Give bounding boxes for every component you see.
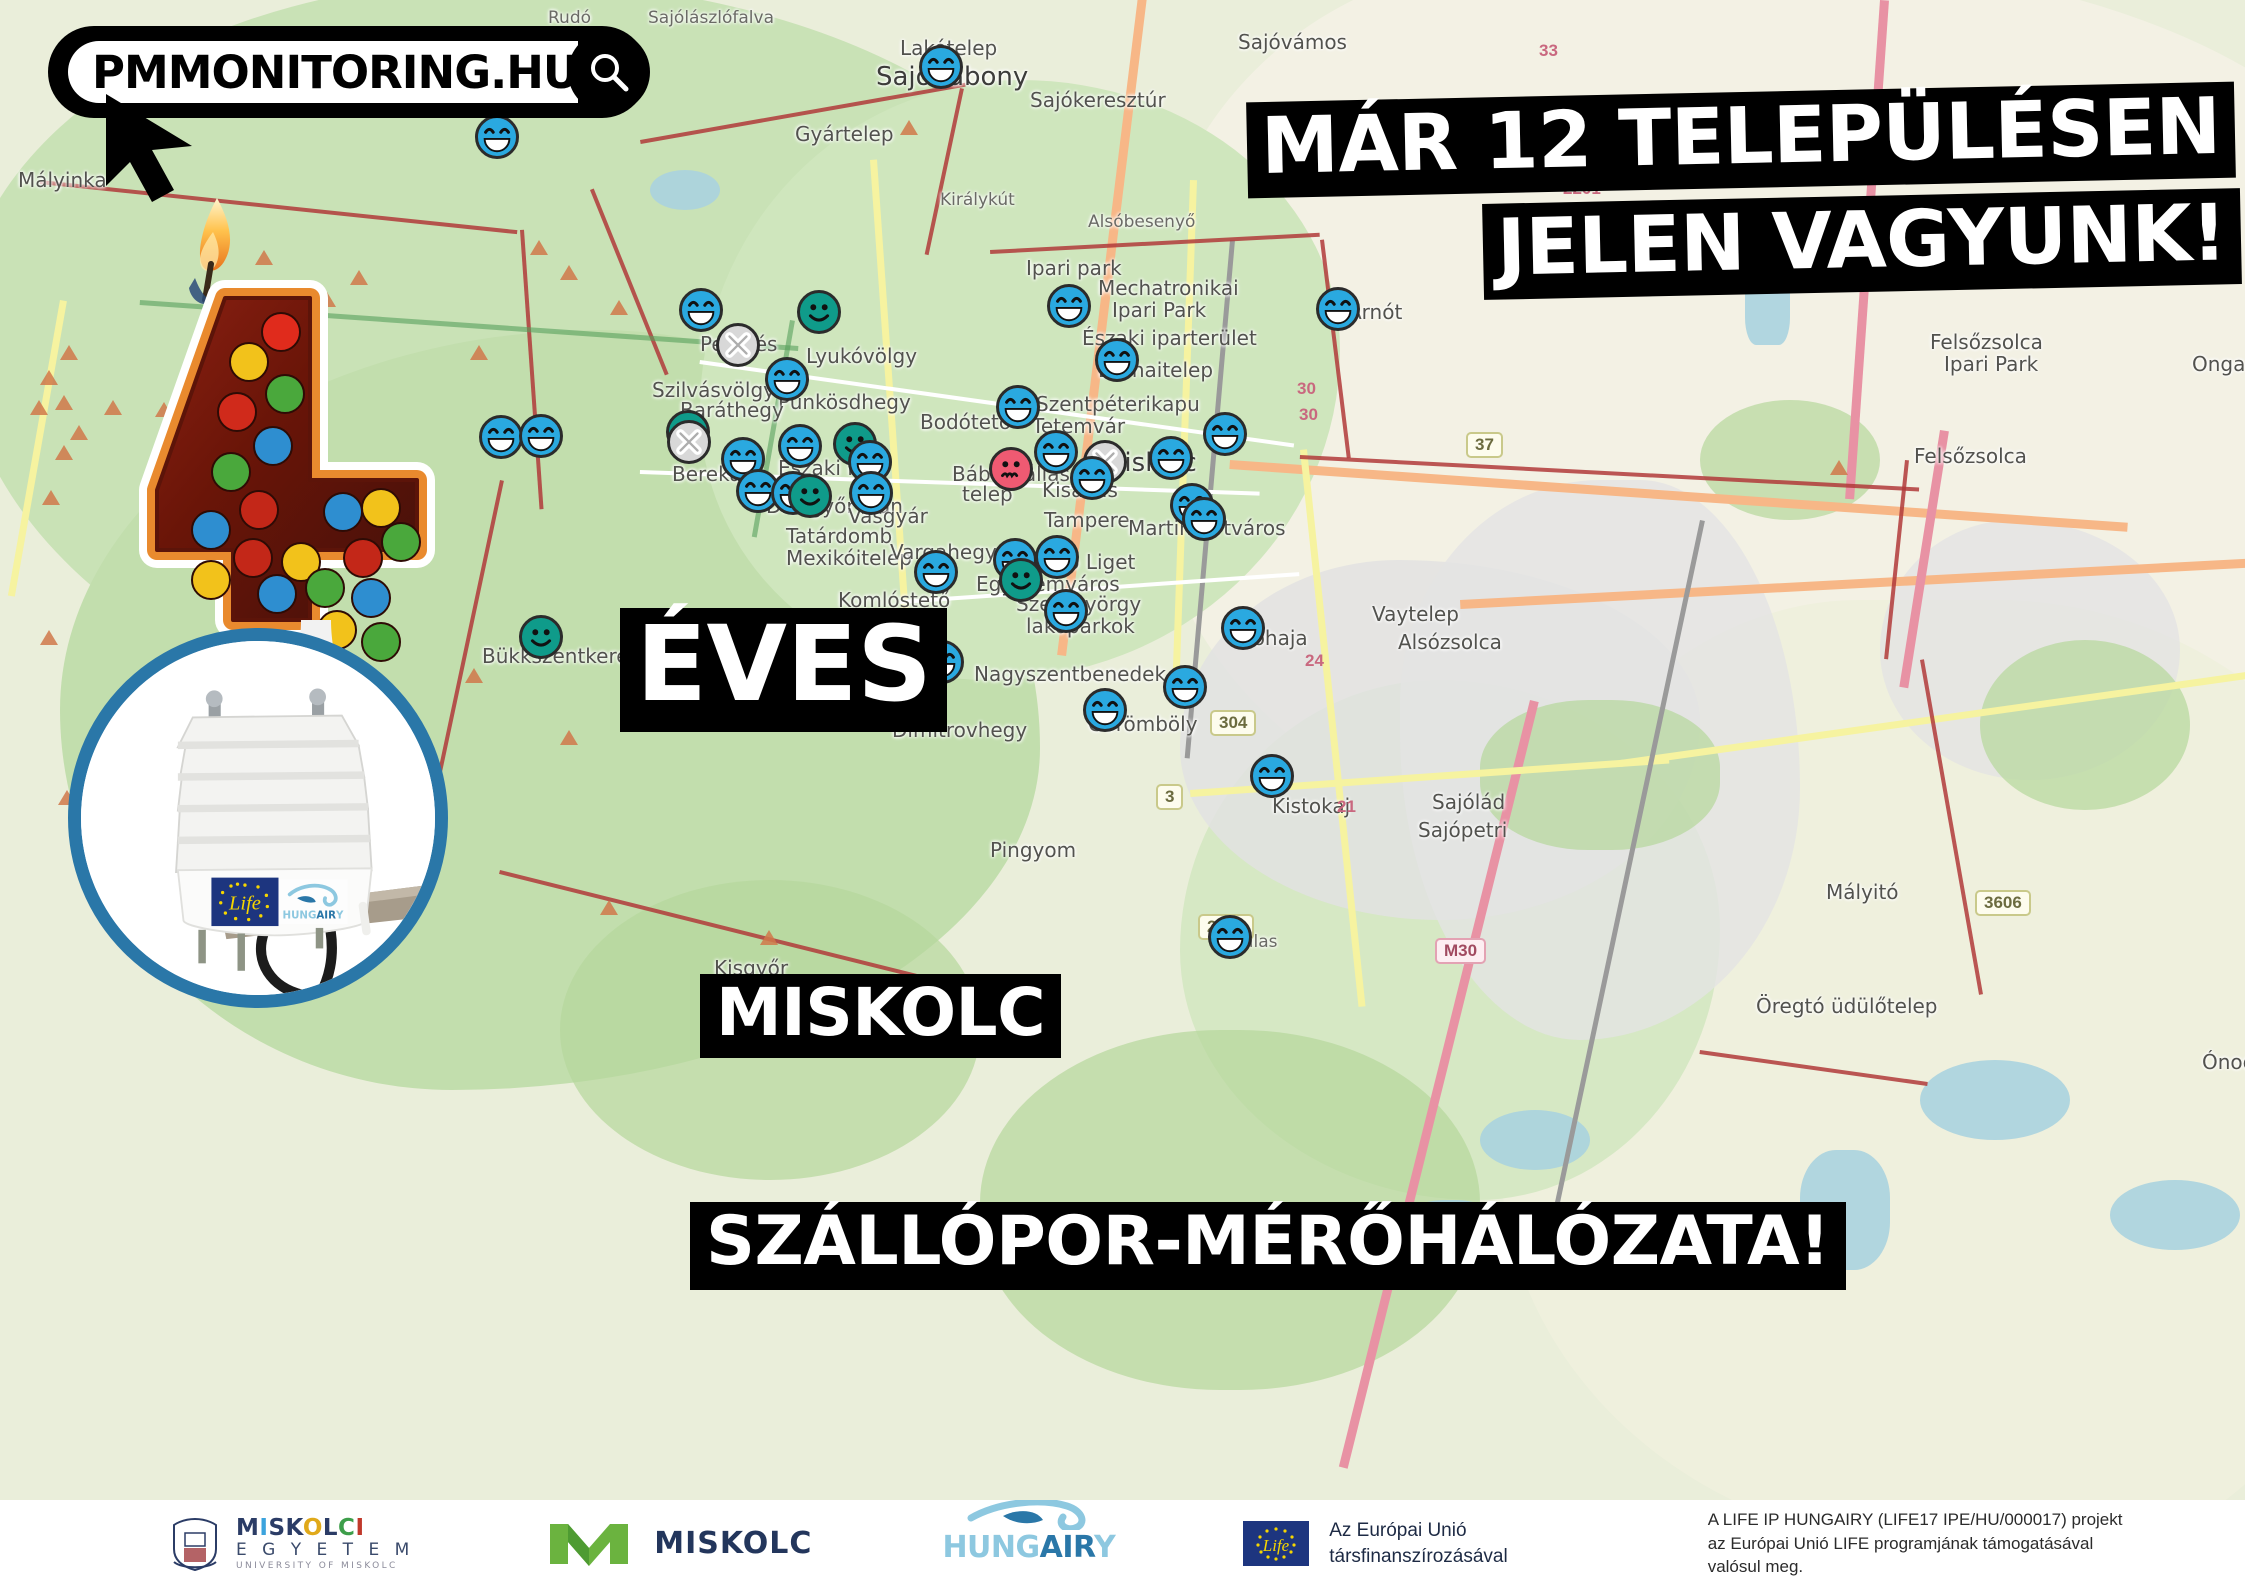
sensor-marker-good[interactable] [1182,497,1226,541]
map-peak-icon [104,400,122,415]
eu-flag-icon: Life [1243,1521,1309,1566]
map-peak-icon [40,370,58,385]
map-road-motorway [1339,700,1539,1469]
hungairy-logo[interactable]: HUNGAIRY [942,1500,1115,1587]
map-border [520,230,544,510]
disclaimer-line-1: A LIFE IP HUNGAIRY (LIFE17 IPE/HU/000017… [1708,1508,2123,1531]
map-place-label: Gyártelep [795,122,894,146]
map-road-shield: 24 [1298,650,1331,672]
poster-root: RudóSajólászlófalvaLakótelepSajóvámosSaj… [0,0,2245,1587]
map-place-label: Szentpéterikapu [1036,392,1200,416]
sensor-marker-good[interactable] [1208,915,1252,959]
university-sub: E G Y E T E M [236,1540,414,1560]
sensor-marker-good[interactable] [679,288,723,332]
eu-text-line-1: Az Európai Unió [1329,1518,1507,1544]
sensor-marker-offline[interactable] [667,420,711,464]
sensor-marker-good[interactable] [1203,412,1247,456]
map-peak-icon [70,425,88,440]
map-border [1699,1050,1927,1086]
sensor-marker-offline[interactable] [716,323,760,367]
map-place-label: Sajóvámos [1238,30,1347,54]
sensor-marker-good[interactable] [1149,436,1193,480]
map-place-label: Sajólászlófalva [648,8,774,28]
map-place-label: Felsőzsolca [1930,330,2043,354]
air-quality-sensor-icon: Life HUNGAIRY [81,641,435,995]
footer-disclaimer: A LIFE IP HUNGAIRY (LIFE17 IPE/HU/000017… [1708,1508,2123,1578]
map-place-label: Rudó [548,8,591,28]
headline-line-2: JELEN VAGYUNK! [1482,188,2241,300]
map-peak-icon [530,240,548,255]
university-of-miskolc-logo[interactable]: MISKOLCI E G Y E T E M UNIVERSITY OF MIS… [168,1500,414,1587]
sensor-marker-good[interactable] [849,471,893,515]
map-water [2110,1180,2240,1250]
map-place-label: Tatárdomb [786,524,892,548]
sensor-marker-excellent[interactable] [999,558,1043,602]
map-green-patch [1480,700,1720,850]
map-road-shield: M30 [1435,938,1486,964]
map-peak-icon [40,630,58,645]
map-border [590,189,669,376]
cursor-arrow-icon [100,94,220,204]
svg-text:HUNGAIRY: HUNGAIRY [283,910,344,922]
map-peak-icon [560,730,578,745]
university-wordmark: MISKOLCI [236,1516,414,1540]
map-area-urban-3 [1880,520,2180,780]
miskolc-city-wordmark: MISKOLC [654,1526,812,1561]
map-road-shield: 304 [1210,710,1256,736]
map-place-label: Öregtó üdülőtelep [1756,994,1938,1018]
map-peak-icon [600,900,618,915]
sensor-marker-good[interactable] [1095,338,1139,382]
sensor-marker-good[interactable] [1163,665,1207,709]
map-water [1920,1060,2070,1140]
sensor-marker-good[interactable] [1047,284,1091,328]
map-peak-icon [900,120,918,135]
map-place-label: Mályinka [18,168,107,192]
map-border [1920,659,1983,995]
map-road-shield: 37 [1466,432,1503,458]
search-icon[interactable] [568,31,650,113]
disclaimer-line-2: az Európai Unió LIFE programjának támoga… [1708,1532,2123,1555]
sensor-marker-good[interactable] [1221,606,1265,650]
map-water [1480,1110,1590,1170]
map-peak-icon [1830,460,1848,475]
map-road-shield: 30 [1290,378,1323,400]
map-peak-icon [55,395,73,410]
eu-life-logo[interactable]: Life Az Európai Unió társfinanszírozásáv… [1243,1500,1507,1587]
footer-bar: MISKOLCI E G Y E T E M UNIVERSITY OF MIS… [0,1500,2245,1587]
map-road [1460,557,2245,609]
map-road [1300,449,1365,1007]
map-place-label: Felsőzsolca [1914,444,2027,468]
map-water [650,170,720,210]
sensor-marker-good[interactable] [1250,754,1294,798]
map-place-label: Sajólád [1432,790,1505,814]
map-place-label: Ipari Park [1112,298,1206,322]
map-place-label: Sajópetri [1418,818,1507,842]
miskolc-mark-icon [546,1516,632,1572]
map-place-label: Alsózsolca [1398,630,1502,654]
university-sub2: UNIVERSITY OF MISKOLC [236,1561,414,1571]
map-peak-icon [560,265,578,280]
sensor-marker-excellent[interactable] [797,290,841,334]
sensor-marker-good[interactable] [1044,589,1088,633]
map-place-label: Lyukóvölgy [806,344,917,368]
sensor-marker-good[interactable] [1316,287,1360,331]
map-road [1229,460,2127,532]
map-place-label: Mechatronikai [1098,276,1239,300]
svg-text:Life: Life [228,892,261,914]
sensor-marker-poor[interactable] [989,447,1033,491]
map-place-label: Nagyszentbenedek [974,662,1166,686]
map-railway [1538,520,1705,1284]
sensor-marker-good[interactable] [914,550,958,594]
sensor-marker-good[interactable] [765,357,809,401]
map-peak-icon [60,345,78,360]
map-place-label: Alsóbesenyő [1088,212,1195,232]
map-place-label: Pingyom [990,838,1076,862]
map-place-label: Onga [2192,352,2245,376]
map-green-patch [1980,640,2190,810]
keyword-miskolc: MISKOLC [700,974,1061,1058]
sensor-marker-excellent[interactable] [788,474,832,518]
sensor-marker-good[interactable] [996,385,1040,429]
miskolc-city-logo[interactable]: MISKOLC [546,1500,812,1587]
map-border [1300,455,1919,491]
svg-text:Life: Life [1262,1536,1290,1555]
sensor-marker-good[interactable] [1070,456,1114,500]
keyword-eves: ÉVES [620,608,947,732]
sensor-marker-good[interactable] [919,45,963,89]
sensor-marker-good[interactable] [479,415,523,459]
sensor-marker-good[interactable] [1083,688,1127,732]
map-peak-icon [30,400,48,415]
sensor-marker-good[interactable] [519,414,563,458]
map-peak-icon [42,490,60,505]
sensor-marker-good[interactable] [778,424,822,468]
map-border [925,88,964,255]
map-border [990,233,1320,254]
map-place-label: Királykút [940,190,1015,210]
map-peak-icon [55,445,73,460]
map-place-label: Vaytelep [1372,602,1459,626]
map-road-shield: 33 [1532,40,1565,62]
keyword-network: SZÁLLÓPOR-MÉRŐHÁLÓZATA! [690,1202,1846,1290]
university-crest-icon [168,1515,222,1573]
map-peak-icon [610,300,628,315]
map-road-shield: 30 [1292,404,1325,426]
map-place-label: Tampere [1044,508,1130,532]
map-place-label: Ipari Park [1944,352,2038,376]
sensor-photo: Life HUNGAIRY [68,628,448,1008]
map-road-shield: 21 [1330,796,1363,818]
sensor-marker-good[interactable] [475,115,519,159]
hungairy-wordmark: HUNGAIRY [942,1530,1115,1565]
map-border [1320,240,1351,459]
hungairy-bird-icon [959,1500,1099,1530]
map-place-label: Ónod [2202,1050,2245,1074]
map-area-plain-2 [1500,600,2245,1500]
eu-text-line-2: társfinanszírozásával [1329,1544,1507,1570]
url-text: PMMONITORING.HU [92,46,578,99]
disclaimer-line-3: valósul meg. [1708,1555,2123,1578]
map-road-shield: 3 [1156,784,1183,810]
map-green-patch [1700,400,1880,520]
sensor-marker-excellent[interactable] [519,615,563,659]
map-place-label: Mályitó [1826,880,1899,904]
map-road-shield: 3606 [1975,890,2031,916]
map-place-label: Sajókeresztúr [1030,88,1166,112]
map-peak-icon [760,930,778,945]
